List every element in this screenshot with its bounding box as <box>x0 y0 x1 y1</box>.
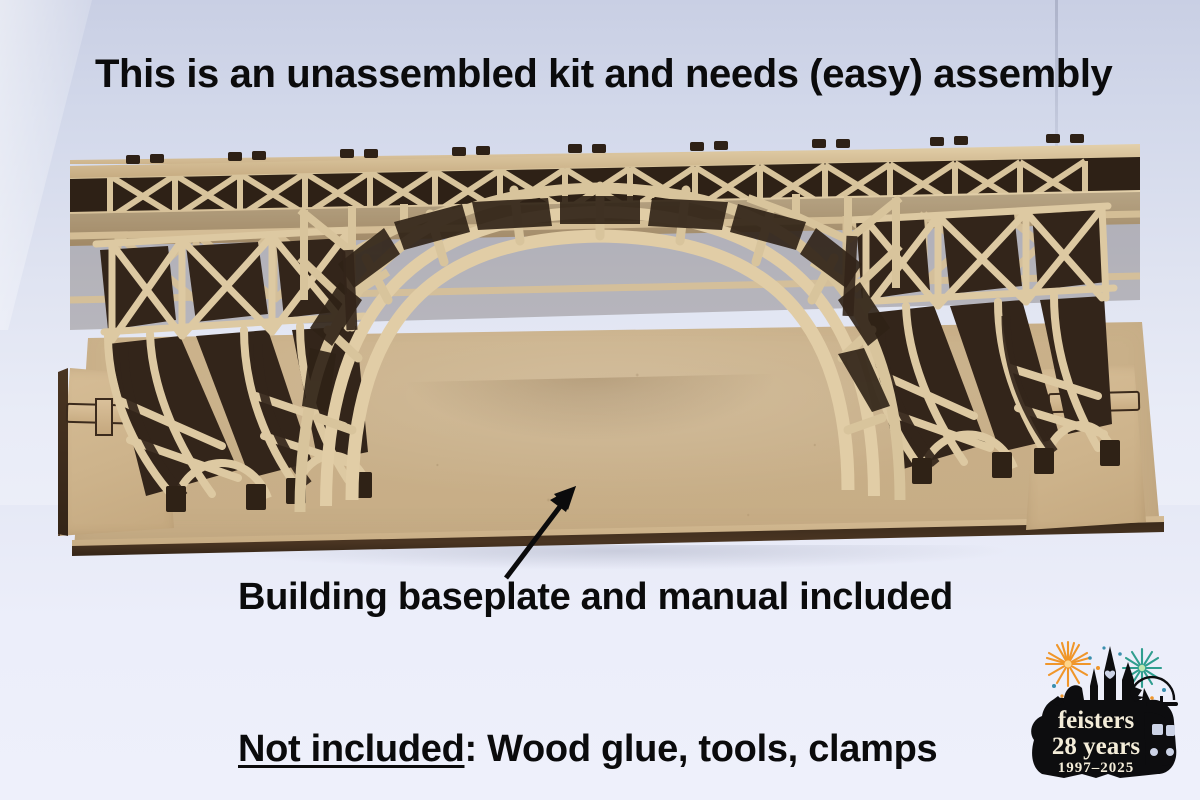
not-included-items: : Wood glue, tools, clamps <box>465 728 938 770</box>
logo-years-text: 1997–2025 <box>1058 760 1135 776</box>
pointer-arrow-icon <box>480 470 610 590</box>
logo-brand-text: feisters <box>1058 707 1135 734</box>
headline-annotation: This is an unassembled kit and needs (ea… <box>95 52 1125 97</box>
not-included-label: Not included <box>238 728 465 770</box>
laser-cut-latticework <box>0 0 1200 800</box>
caption-not-included: Not included: Wood glue, tools, clamps <box>238 728 1028 771</box>
brand-logo: feisters 28 years 1997–2025 <box>1024 628 1188 780</box>
caption-baseplate-included: Building baseplate and manual included <box>238 576 1028 619</box>
model-bridge-kit <box>0 0 1200 800</box>
firework-icon-left <box>1046 642 1090 686</box>
product-photo: This is an unassembled kit and needs (ea… <box>0 0 1200 800</box>
logo-anniversary-text: 28 years <box>1052 733 1140 760</box>
